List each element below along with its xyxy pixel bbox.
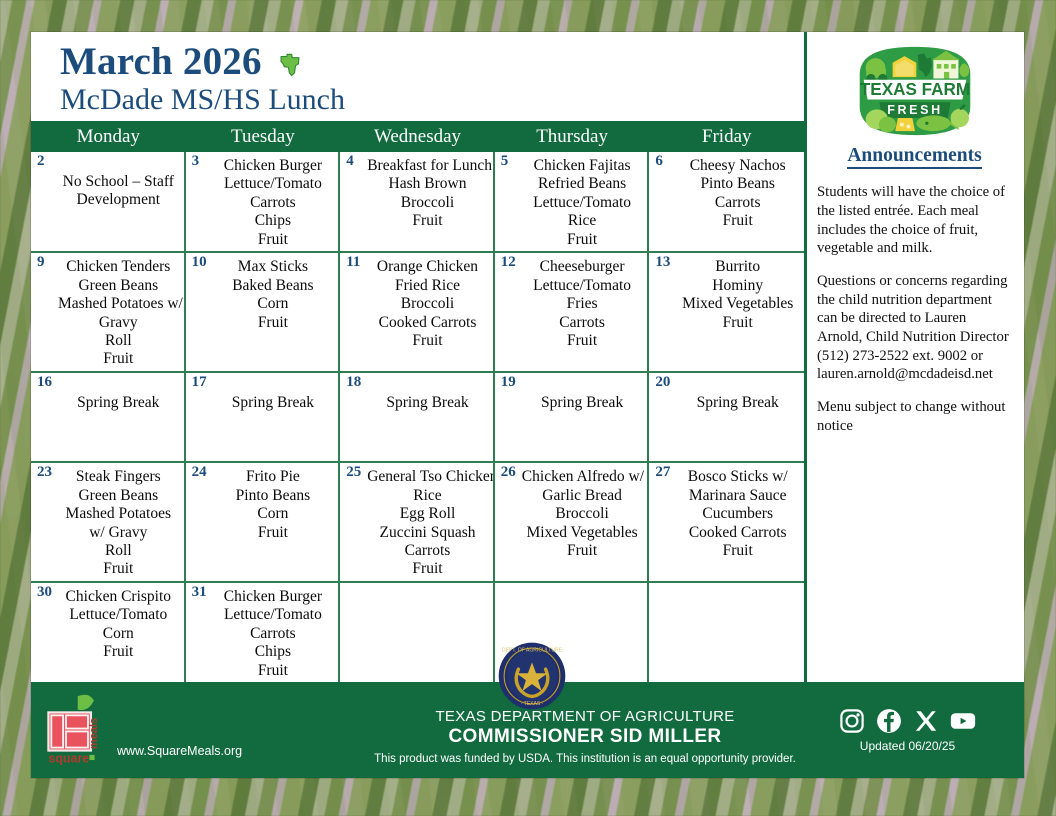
menu-item: Roll [58,542,179,560]
menu-item: Max Sticks [213,258,334,276]
menu-item: Lettuce/Tomato [213,175,334,193]
menu-item: Carrots [522,314,643,332]
menu-item: Bosco Sticks w/ [676,468,799,486]
menu-items: BurritoHominyMixed VegetablesFruit [676,258,799,332]
menu-item: No School – Staff [58,173,179,191]
menu-items: Chicken CrispitoLettuce/TomatoCornFruit [58,588,179,662]
menu-item: Fruit [213,231,334,249]
calendar-day-cell[interactable]: 6Cheesy NachosPinto BeansCarrotsFruit [649,152,804,251]
logo-text-top: TEXAS FARM [859,80,969,99]
menu-items: Frito PiePinto BeansCornFruit [213,468,334,542]
agency-name: TEXAS DEPARTMENT OF AGRICULTURE [361,708,809,725]
menu-items: Cheesy NachosPinto BeansCarrotsFruit [676,157,799,231]
menu-items: Chicken TendersGreen BeansMashed Potatoe… [58,258,179,369]
menu-item: Refried Beans [522,175,643,193]
menu-item: Corn [58,625,179,643]
dow-thursday: Thursday [495,121,650,152]
day-number: 10 [192,255,207,270]
calendar-day-cell[interactable]: 17Spring Break [186,373,341,461]
menu-item: Development [58,191,179,209]
menu-item: Rice [367,487,488,505]
menu-item: Fruit [367,212,488,230]
menu-item: Cheeseburger [522,258,643,276]
menu-item: Lettuce/Tomato [58,606,179,624]
menu-item: Rice [522,212,643,230]
calendar-day-cell[interactable]: 5Chicken FajitasRefried BeansLettuce/Tom… [495,152,650,251]
day-number: 31 [192,585,207,600]
calendar-week: 2No School – StaffDevelopment3Chicken Bu… [31,152,804,253]
day-number: 3 [192,154,200,169]
calendar-area: March 2026 McDade MS/HS Lunch Monday Tue… [31,32,807,682]
calendar-day-cell[interactable]: 16Spring Break [31,373,186,461]
calendar-day-cell[interactable]: 12CheeseburgerLettuce/TomatoFriesCarrots… [495,253,650,371]
menu-item: Mashed Potatoes [58,505,179,523]
dow-tuesday: Tuesday [186,121,341,152]
menu-item: Lettuce/Tomato [213,606,334,624]
calendar-day-cell[interactable]: 2No School – StaffDevelopment [31,152,186,251]
commissioner-name: COMMISSIONER SID MILLER [361,726,809,748]
day-number: 9 [37,255,45,270]
announcements-panel: TEXAS FARM FRESH Announcements Students … [807,32,1021,682]
svg-text:· TEXAS ·: · TEXAS · [521,701,544,707]
menu-item: Fruit [522,332,643,350]
menu-items: Chicken FajitasRefried BeansLettuce/Toma… [522,157,643,249]
menu-item: Hominy [676,277,799,295]
menu-item: Corn [213,505,334,523]
menu-item: Chips [213,212,334,230]
menu-item: Chicken Burger [213,588,334,606]
texas-department-of-agriculture-seal: DEPT. OF AGRICULTURE · TEXAS · [498,642,566,710]
page-title: March 2026 [60,41,262,82]
calendar-weeks: 2No School – StaffDevelopment3Chicken Bu… [31,152,804,682]
month-line: March 2026 [60,41,804,82]
footer-left: square meals www.SquareMeals.org [31,693,361,767]
day-number: 16 [37,375,52,390]
menu-item: Breakfast for Lunch [367,157,488,175]
day-number: 13 [655,255,670,270]
menu-item: Spring Break [676,394,799,412]
menu-item: Baked Beans [213,277,334,295]
menu-item: Fruit [58,560,179,578]
menu-item: General Tso Chicken [367,468,488,486]
menu-item: Mixed Vegetables [522,524,643,542]
menu-item: Fruit [367,332,488,350]
calendar-day-cell[interactable]: 27Bosco Sticks w/Marinara SauceCucumbers… [649,463,804,581]
menu-items: Spring Break [522,394,643,412]
menu-item: Fruit [58,643,179,661]
menu-item: Spring Break [522,394,643,412]
menu-item: Broccoli [367,194,488,212]
menu-item: Mashed Potatoes w/ [58,295,179,313]
day-number: 5 [501,154,509,169]
square-meals-url[interactable]: www.SquareMeals.org [117,744,242,767]
calendar-day-cell[interactable]: 11Orange ChickenFried RiceBroccoliCooked… [340,253,495,371]
day-number: 23 [37,465,52,480]
menu-items: Chicken BurgerLettuce/TomatoCarrotsChips… [213,157,334,249]
x-twitter-icon[interactable] [913,708,939,734]
menu-items: Spring Break [676,394,799,412]
menu-item: Chicken Alfredo w/ [522,468,643,486]
menu-item: Gravy [58,314,179,332]
calendar-day-cell[interactable]: 9Chicken TendersGreen BeansMashed Potato… [31,253,186,371]
page-body: March 2026 McDade MS/HS Lunch Monday Tue… [31,32,1024,682]
day-number: 24 [192,465,207,480]
day-number: 27 [655,465,670,480]
menu-item: Zuccini Squash [367,524,488,542]
menu-item: Pinto Beans [213,487,334,505]
day-number: 19 [501,375,516,390]
menu-items: General Tso ChickenRiceEgg RollZuccini S… [367,468,488,579]
dow-friday: Friday [649,121,804,152]
menu-items: Spring Break [367,394,488,412]
menu-items: Chicken Alfredo w/Garlic BreadBroccoliMi… [522,468,643,560]
announcement-paragraph-1: Students will have the choice of the lis… [817,183,1012,258]
menu-item: Chicken Burger [213,157,334,175]
calendar-day-cell[interactable]: 20Spring Break [649,373,804,461]
menu-item: Lettuce/Tomato [522,194,643,212]
menu-item: Spring Break [58,394,179,412]
calendar-day-cell[interactable]: 23Steak FingersGreen BeansMashed Potatoe… [31,463,186,581]
menu-items: Max SticksBaked BeansCornFruit [213,258,334,332]
menu-item: Fruit [213,662,334,680]
calendar-day-cell[interactable]: 18Spring Break [340,373,495,461]
menu-item: Chicken Crispito [58,588,179,606]
menu-items: Orange ChickenFried RiceBroccoliCooked C… [367,258,488,350]
square-meals-logo: square meals [44,693,110,767]
updated-date: Updated 06/20/25 [860,739,955,753]
menu-item: Frito Pie [213,468,334,486]
menu-items: Steak FingersGreen BeansMashed Potatoesw… [58,468,179,579]
calendar-day-cell[interactable]: 3Chicken BurgerLettuce/TomatoCarrotsChip… [186,152,341,251]
menu-item: Fruit [676,314,799,332]
day-number: 11 [346,255,360,270]
social-links [839,708,976,734]
day-of-week-header: Monday Tuesday Wednesday Thursday Friday [31,121,804,152]
menu-item: Cucumbers [676,505,799,523]
footer: DEPT. OF AGRICULTURE · TEXAS · square me… [31,682,1024,778]
texas-state-icon [276,51,304,79]
title-block: March 2026 McDade MS/HS Lunch [31,32,804,121]
menu-item: Fruit [676,212,799,230]
menu-items: Breakfast for LunchHash BrownBroccoliFru… [367,157,488,231]
svg-text:DEPT. OF AGRICULTURE: DEPT. OF AGRICULTURE [502,648,563,654]
menu-item: Steak Fingers [58,468,179,486]
usda-statement: This product was funded by USDA. This in… [361,753,809,765]
logo-text-bottom: FRESH [887,103,943,117]
day-number: 2 [37,154,45,169]
menu-item: Marinara Sauce [676,487,799,505]
day-number: 26 [501,465,516,480]
menu-item: Carrots [676,194,799,212]
day-number: 18 [346,375,361,390]
youtube-icon[interactable] [950,708,976,734]
announcement-paragraph-3: Menu subject to change without notice [817,398,1012,435]
menu-item: Chicken Tenders [58,258,179,276]
menu-item: Fries [522,295,643,313]
calendar-empty-cell [340,583,495,682]
menu-item: Orange Chicken [367,258,488,276]
texas-farm-fresh-logo: TEXAS FARM FRESH [849,39,981,143]
menu-item: Carrots [213,194,334,212]
dow-wednesday: Wednesday [340,121,495,152]
day-number: 12 [501,255,516,270]
footer-center: TEXAS DEPARTMENT OF AGRICULTURE COMMISSI… [361,696,809,765]
calendar-week: 23Steak FingersGreen BeansMashed Potatoe… [31,463,804,583]
menu-items: Bosco Sticks w/Marinara SauceCucumbersCo… [676,468,799,560]
menu-item: Corn [213,295,334,313]
menu-item: Fruit [676,542,799,560]
day-number: 20 [655,375,670,390]
menu-items: Spring Break [213,394,334,412]
svg-text:meals: meals [88,718,100,749]
page-subtitle: McDade MS/HS Lunch [60,83,804,116]
menu-item: Broccoli [367,295,488,313]
menu-item: Lettuce/Tomato [522,277,643,295]
menu-item: Roll [58,332,179,350]
menu-item: Garlic Bread [522,487,643,505]
day-number: 4 [346,154,354,169]
menu-item: Hash Brown [367,175,488,193]
menu-item: Carrots [213,625,334,643]
calendar-day-cell[interactable]: 30Chicken CrispitoLettuce/TomatoCornFrui… [31,583,186,682]
day-number: 6 [655,154,663,169]
instagram-icon[interactable] [839,708,865,734]
menu-item: Cooked Carrots [676,524,799,542]
menu-item: Carrots [367,542,488,560]
menu-item: Cheesy Nachos [676,157,799,175]
menu-item: Chips [213,643,334,661]
menu-item: Fruit [213,314,334,332]
menu-item: w/ Gravy [58,524,179,542]
footer-right: Updated 06/20/25 [809,708,1024,753]
menu-items: Spring Break [58,394,179,412]
announcements-heading: Announcements [847,145,981,169]
calendar-day-cell[interactable]: 4Breakfast for LunchHash BrownBroccoliFr… [340,152,495,251]
menu-item: Chicken Fajitas [522,157,643,175]
announcement-paragraph-2: Questions or concerns regarding the chil… [817,272,1012,384]
menu-items: Chicken BurgerLettuce/TomatoCarrotsChips… [213,588,334,680]
menu-item: Green Beans [58,487,179,505]
dow-monday: Monday [31,121,186,152]
calendar-day-cell[interactable]: 31Chicken BurgerLettuce/TomatoCarrotsChi… [186,583,341,682]
menu-item: Spring Break [213,394,334,412]
menu-item: Spring Break [367,394,488,412]
calendar-day-cell[interactable]: 26Chicken Alfredo w/Garlic BreadBroccoli… [495,463,650,581]
menu-item: Fruit [58,350,179,368]
menu-item: Cooked Carrots [367,314,488,332]
svg-text:square: square [48,751,89,765]
calendar-empty-cell [649,583,804,682]
menu-items: No School – StaffDevelopment [58,173,179,210]
calendar-day-cell[interactable]: 25General Tso ChickenRiceEgg RollZuccini… [340,463,495,581]
calendar-week: 9Chicken TendersGreen BeansMashed Potato… [31,253,804,373]
day-number: 30 [37,585,52,600]
menu-item: Broccoli [522,505,643,523]
menu-item: Fruit [522,231,643,249]
menu-item: Mixed Vegetables [676,295,799,313]
calendar-week: 16Spring Break17Spring Break18Spring Bre… [31,373,804,463]
calendar-day-cell[interactable]: 19Spring Break [495,373,650,461]
menu-item: Egg Roll [367,505,488,523]
menu-item: Burrito [676,258,799,276]
calendar-week: 30Chicken CrispitoLettuce/TomatoCornFrui… [31,583,804,682]
menu-items: CheeseburgerLettuce/TomatoFriesCarrotsFr… [522,258,643,350]
day-number: 25 [346,465,361,480]
calendar-day-cell[interactable]: 24Frito PiePinto BeansCornFruit [186,463,341,581]
day-number: 17 [192,375,207,390]
calendar-page: March 2026 McDade MS/HS Lunch Monday Tue… [31,32,1024,778]
calendar-day-cell[interactable]: 13BurritoHominyMixed VegetablesFruit [649,253,804,371]
menu-item: Fruit [213,524,334,542]
calendar-day-cell[interactable]: 10Max SticksBaked BeansCornFruit [186,253,341,371]
menu-item: Fruit [522,542,643,560]
facebook-icon[interactable] [876,708,902,734]
menu-item: Pinto Beans [676,175,799,193]
menu-item: Fruit [367,560,488,578]
menu-item: Fried Rice [367,277,488,295]
menu-item: Green Beans [58,277,179,295]
